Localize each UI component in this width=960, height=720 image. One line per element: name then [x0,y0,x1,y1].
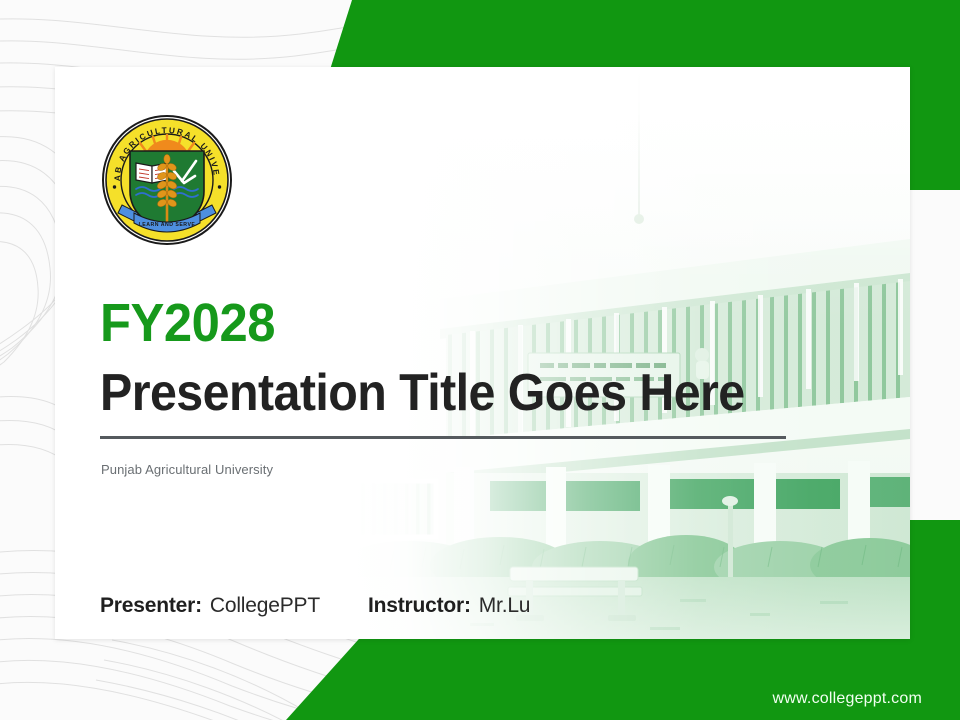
presenter-credit: Presenter: CollegePPT [100,594,320,618]
instructor-label: Instructor: [368,594,471,618]
svg-text:LEARN AND SERVE: LEARN AND SERVE [139,222,196,228]
title-divider [100,436,786,439]
presenter-label: Presenter: [100,594,202,618]
organization-subtitle: Punjab Agricultural University [101,462,273,477]
punjab-agricultural-university-seal-icon: PUNJAB AGRICULTURAL UNIVERSITY 1962 [100,113,234,247]
presentation-slide: PUNJAB AGRICULTURAL UNIVERSITY 1962 [0,0,960,720]
university-logo: PUNJAB AGRICULTURAL UNIVERSITY 1962 [100,113,234,247]
title-block: FY2028 Presentation Title Goes Here [100,296,800,421]
instructor-value: Mr.Lu [479,594,531,618]
fiscal-year-label: FY2028 [100,296,758,350]
instructor-credit: Instructor: Mr.Lu [368,594,530,618]
footer-website-url[interactable]: www.collegeppt.com [773,690,922,708]
page-title: Presentation Title Goes Here [100,366,751,421]
presenter-value: CollegePPT [210,594,320,618]
credits-row: Presenter: CollegePPT Instructor: Mr.Lu [100,594,530,618]
